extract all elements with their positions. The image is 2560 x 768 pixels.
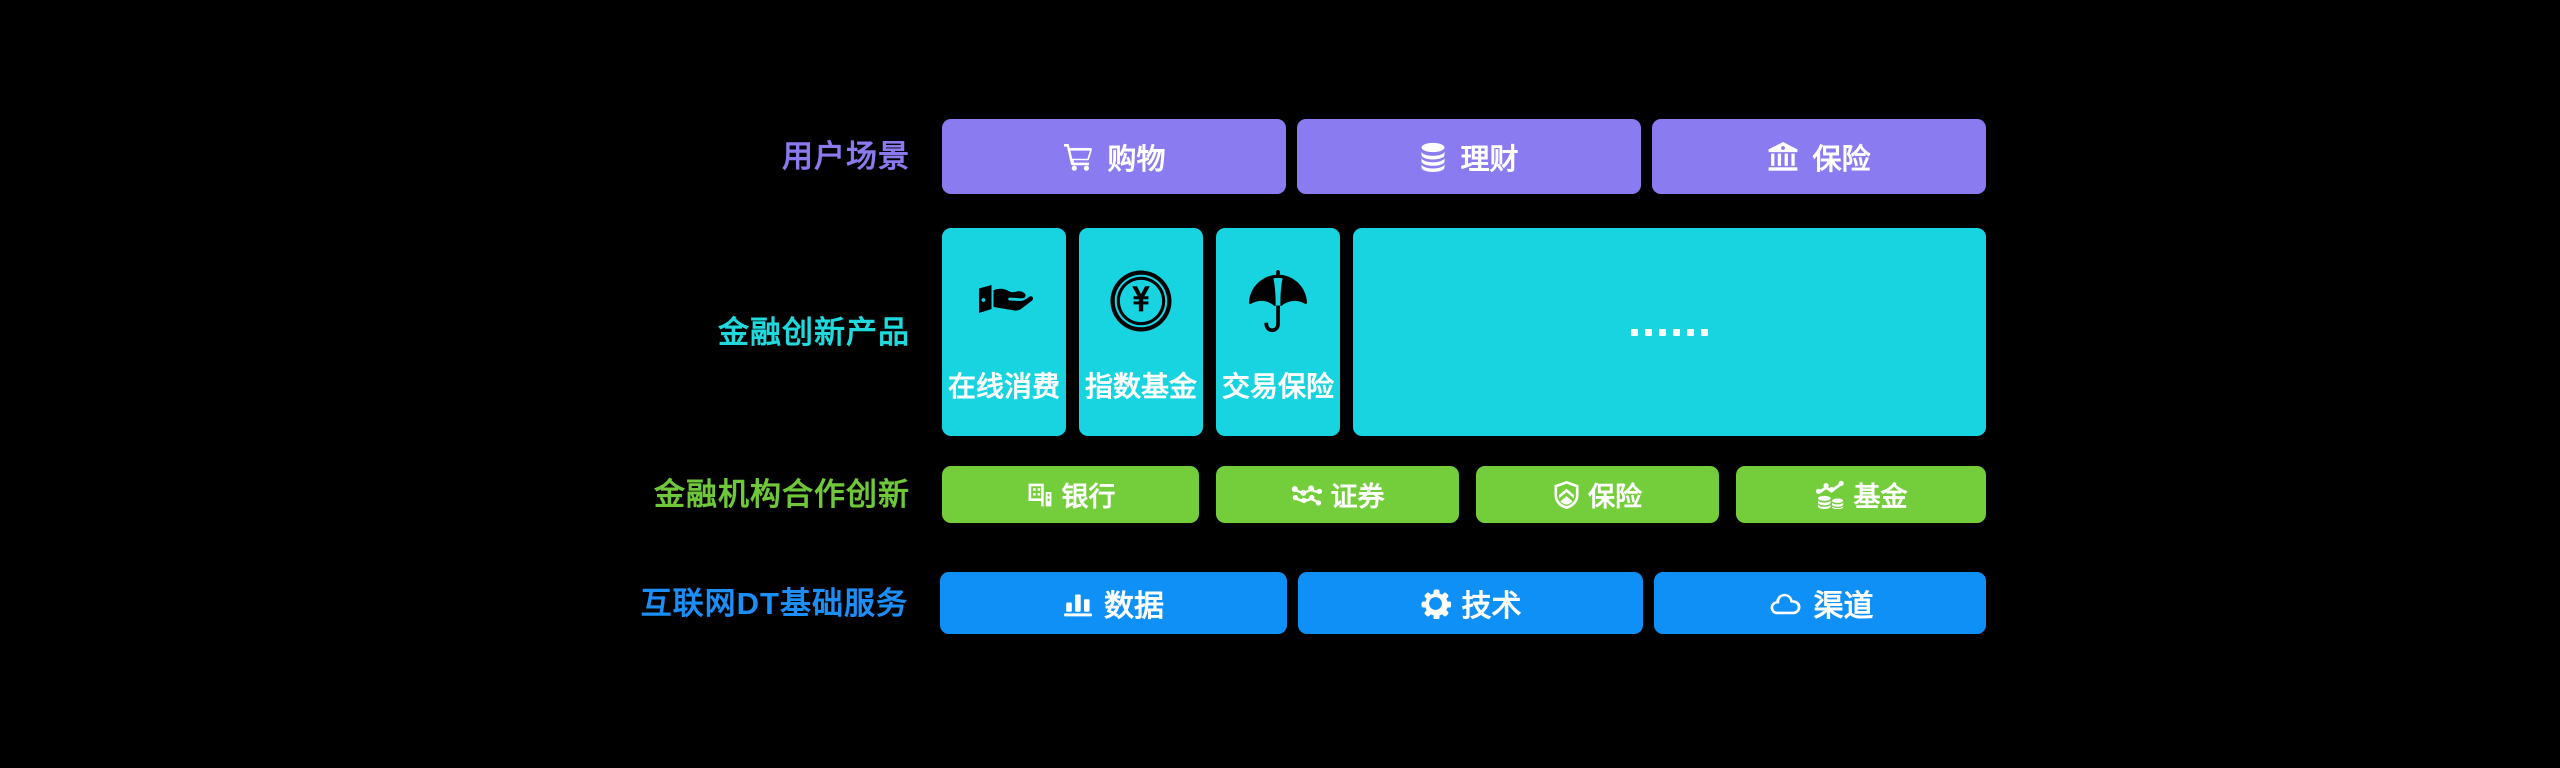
card-label-channel: 渠道 <box>1814 581 1874 625</box>
card-transaction-insurance[interactable]: 交易保险 <box>1216 228 1340 436</box>
card-fund[interactable]: 基金 <box>1736 466 1986 523</box>
card-label-transaction-insurance: 交易保险 <box>1222 365 1334 405</box>
card-insurance-scenario[interactable]: 保险 <box>1652 119 1986 194</box>
card-more-products[interactable] <box>1353 228 1986 436</box>
card-label-securities: 证券 <box>1331 475 1385 514</box>
shield-icon <box>1553 480 1580 510</box>
bank-building-icon <box>1767 141 1799 172</box>
card-securities[interactable]: 证券 <box>1216 466 1459 523</box>
card-insurance-institution[interactable]: 保险 <box>1476 466 1719 523</box>
card-label-online-consumption: 在线消费 <box>948 365 1060 405</box>
cards-financial-innovation-products: 在线消费 指数基金 <box>942 228 1986 436</box>
row-financial-institution-cooperation: 金融机构合作创新 银行 <box>942 466 1986 523</box>
card-wealth-management[interactable]: 理财 <box>1297 119 1641 194</box>
card-label-shopping: 购物 <box>1107 136 1165 178</box>
card-label-data: 数据 <box>1104 581 1164 625</box>
hand-money-icon <box>973 255 1035 347</box>
cards-user-scenarios: 购物 理财 <box>942 119 1986 194</box>
row-user-scenarios: 用户场景 购物 <box>942 119 1986 194</box>
cloud-icon <box>1767 590 1803 616</box>
office-building-icon <box>1026 481 1054 509</box>
umbrella-icon <box>1244 255 1312 347</box>
cards-financial-institution-cooperation: 银行 证券 <box>942 466 1986 523</box>
card-label-insurance-institution: 保险 <box>1588 475 1642 514</box>
card-data[interactable]: 数据 <box>940 572 1287 634</box>
row-label-user-scenarios: 用户场景 <box>782 141 910 172</box>
row-label-financial-institution-cooperation: 金融机构合作创新 <box>654 479 910 510</box>
card-shopping[interactable]: 购物 <box>942 119 1286 194</box>
gear-icon <box>1420 588 1451 619</box>
card-label-wealth-management: 理财 <box>1460 136 1518 178</box>
row-financial-innovation-products: 金融创新产品 在线消费 <box>942 228 1986 436</box>
ellipsis-icon <box>1631 329 1708 336</box>
yen-coin-icon <box>1106 255 1176 347</box>
card-bank[interactable]: 银行 <box>942 466 1199 523</box>
card-channel[interactable]: 渠道 <box>1654 572 1986 634</box>
cards-internet-dt-base-services: 数据 技术 渠道 <box>940 572 1986 634</box>
card-label-technology: 技术 <box>1462 581 1522 625</box>
network-chart-icon <box>1291 482 1323 508</box>
row-label-internet-dt-base-services: 互联网DT基础服务 <box>641 588 908 619</box>
bar-chart-icon <box>1063 589 1093 617</box>
card-index-fund[interactable]: 指数基金 <box>1079 228 1203 436</box>
card-technology[interactable]: 技术 <box>1298 572 1643 634</box>
shopping-cart-icon <box>1062 141 1094 173</box>
coins-growth-icon <box>1815 480 1846 509</box>
row-label-financial-innovation-products: 金融创新产品 <box>718 317 910 348</box>
diagram-canvas: 用户场景 购物 <box>0 0 2560 768</box>
coins-stack-icon <box>1419 142 1447 172</box>
card-online-consumption[interactable]: 在线消费 <box>942 228 1066 436</box>
card-label-insurance-scenario: 保险 <box>1812 136 1870 178</box>
row-internet-dt-base-services: 互联网DT基础服务 数据 <box>940 572 1986 634</box>
card-label-index-fund: 指数基金 <box>1085 365 1197 405</box>
card-label-fund: 基金 <box>1854 475 1908 514</box>
card-label-bank: 银行 <box>1062 475 1116 514</box>
